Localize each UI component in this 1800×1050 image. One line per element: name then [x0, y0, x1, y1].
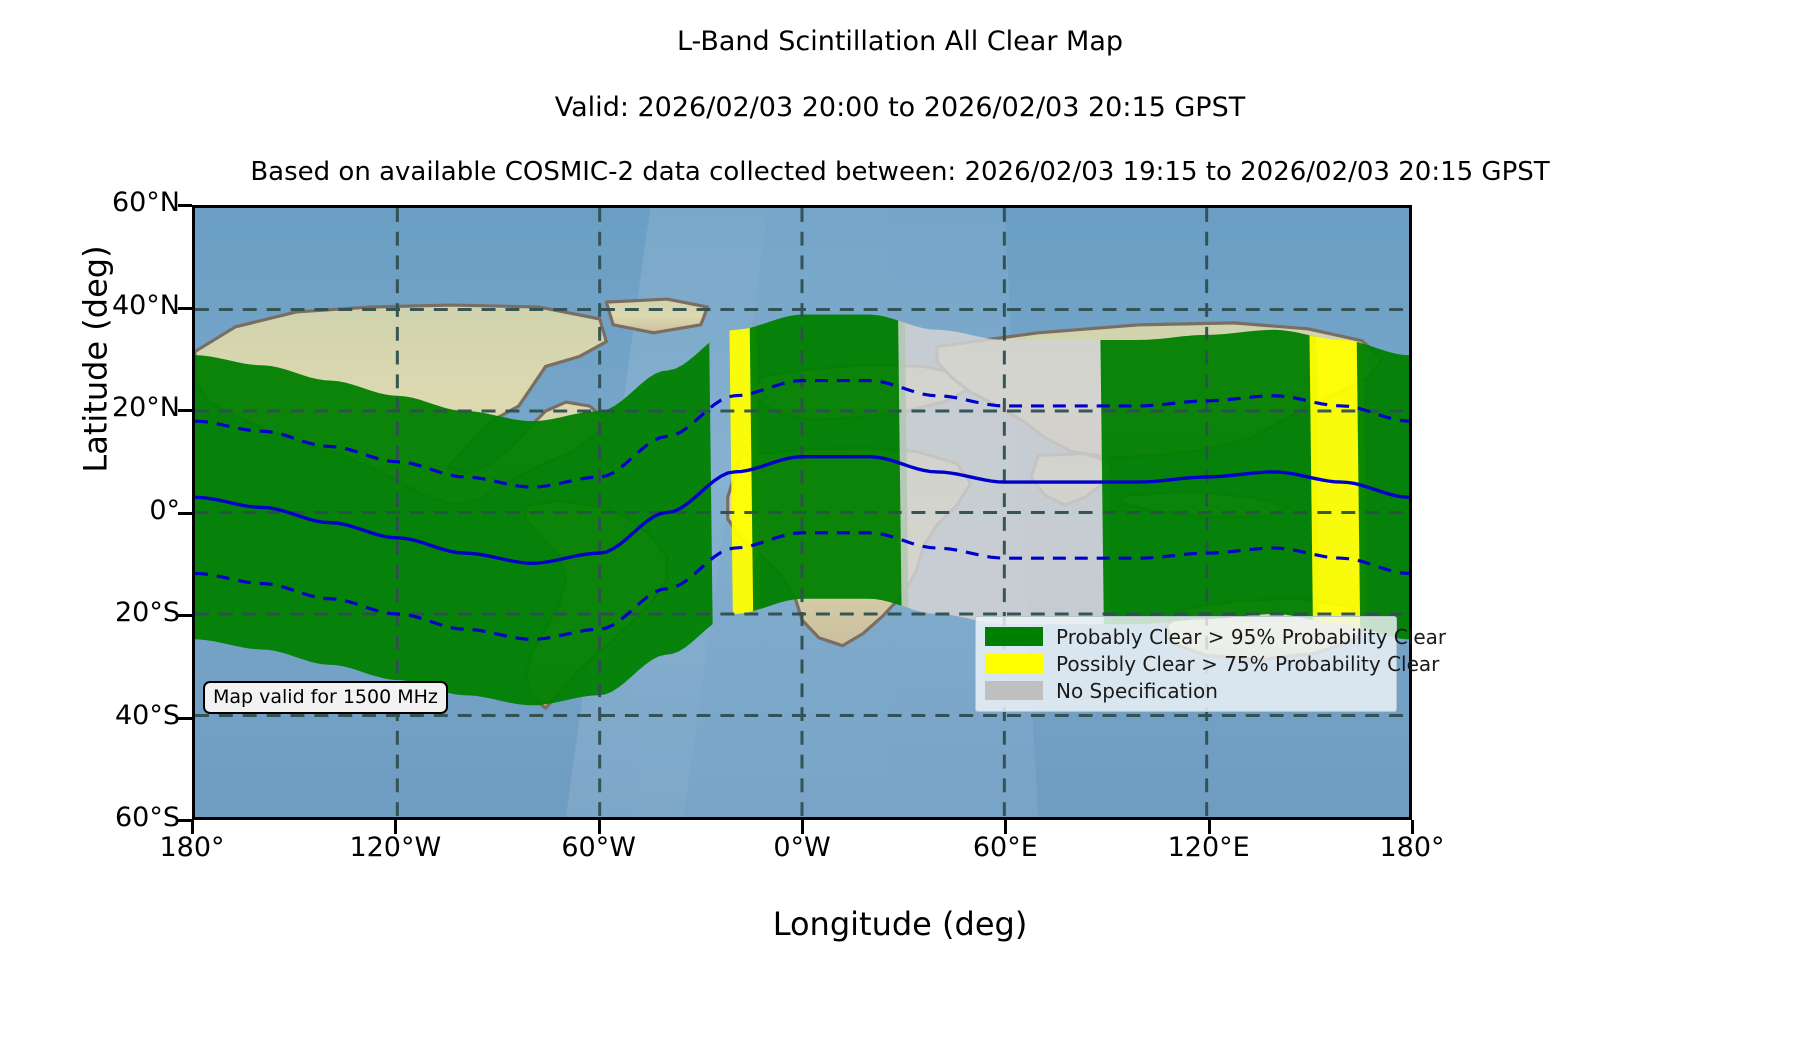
- y-axis-label: Latitude (deg): [77, 245, 115, 472]
- x-tick-mark: [1208, 820, 1211, 834]
- x-tick-mark: [598, 820, 601, 834]
- frequency-annotation-label: Map valid for 1500 MHz: [213, 686, 438, 708]
- y-tick-mark: [178, 614, 192, 617]
- y-tick-label: 40°N: [40, 290, 180, 321]
- y-tick-label: 0°: [40, 495, 180, 526]
- x-tick-mark: [191, 820, 194, 834]
- legend-swatch-green: [985, 627, 1043, 646]
- y-tick-mark: [178, 409, 192, 412]
- map-plot-area[interactable]: [192, 205, 1412, 820]
- y-tick-label: 20°S: [40, 597, 180, 628]
- legend-label-possibly-clear: Possibly Clear > 75% Probability Clear: [1056, 652, 1439, 676]
- x-tick-label: 180°: [1312, 832, 1512, 863]
- y-tick-label: 60°S: [40, 802, 180, 833]
- legend-item-possibly-clear: Possibly Clear > 75% Probability Clear: [985, 650, 1387, 677]
- legend-label-probably-clear: Probably Clear > 95% Probability Clear: [1056, 625, 1446, 649]
- y-tick-label: 40°S: [40, 700, 180, 731]
- frequency-annotation: Map valid for 1500 MHz: [203, 681, 448, 714]
- x-tick-mark: [394, 820, 397, 834]
- y-tick-mark: [178, 307, 192, 310]
- data-source-note: Based on available COSMIC-2 data collect…: [0, 157, 1800, 187]
- y-tick-mark: [178, 717, 192, 720]
- legend-label-no-specification: No Specification: [1056, 679, 1218, 703]
- scintillation-map: [195, 208, 1409, 817]
- x-tick-label: 180°: [92, 832, 292, 863]
- x-tick-label: 120°E: [1109, 832, 1309, 863]
- validity-subtitle: Valid: 2026/02/03 20:00 to 2026/02/03 20…: [0, 92, 1800, 123]
- x-tick-mark: [1411, 820, 1414, 834]
- y-tick-mark: [178, 819, 192, 822]
- map-legend: Probably Clear > 95% Probability Clear P…: [975, 616, 1397, 712]
- x-tick-label: 0°W: [702, 832, 902, 863]
- x-axis-label: Longitude (deg): [0, 905, 1800, 943]
- y-tick-label: 60°N: [40, 187, 180, 218]
- x-tick-label: 120°W: [295, 832, 495, 863]
- x-tick-label: 60°E: [905, 832, 1105, 863]
- y-tick-mark: [178, 204, 192, 207]
- legend-swatch-gray: [985, 681, 1043, 700]
- legend-swatch-yellow: [985, 654, 1043, 673]
- y-tick-label: 20°N: [40, 392, 180, 423]
- x-tick-mark: [801, 820, 804, 834]
- legend-item-probably-clear: Probably Clear > 95% Probability Clear: [985, 623, 1387, 650]
- legend-item-no-specification: No Specification: [985, 677, 1387, 704]
- page-title: L-Band Scintillation All Clear Map: [0, 26, 1800, 57]
- x-tick-mark: [1004, 820, 1007, 834]
- x-tick-label: 60°W: [499, 832, 699, 863]
- y-tick-mark: [178, 512, 192, 515]
